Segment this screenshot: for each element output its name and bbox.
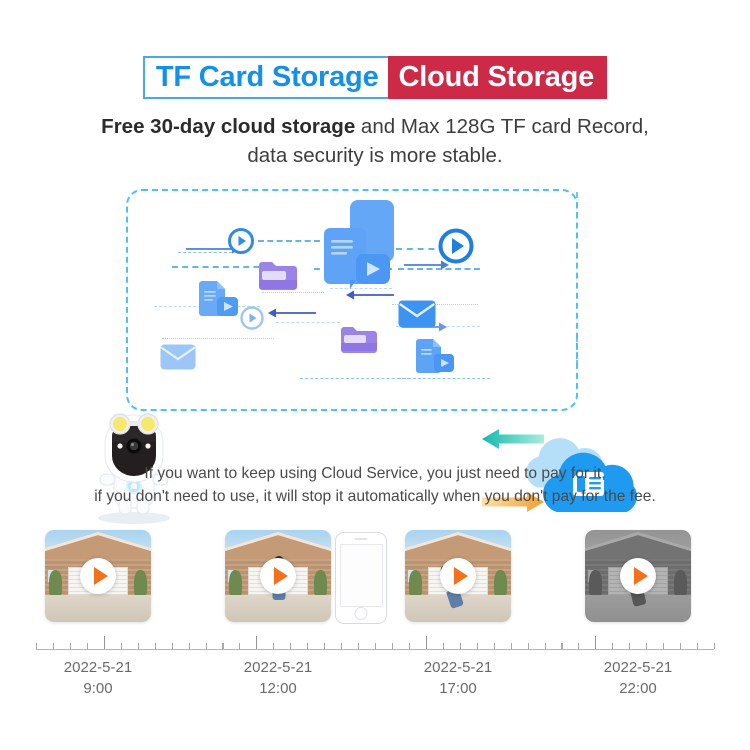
- ruler-tick: [358, 643, 359, 649]
- ruler-tick-major: [104, 636, 105, 649]
- ruler-tick: [290, 643, 291, 649]
- play-circle-icon: [438, 228, 474, 264]
- ruler-tick: [511, 643, 512, 649]
- subtitle-line-2: data security is more stable.: [0, 141, 750, 170]
- driveway: [45, 595, 151, 622]
- timeline-time: 9:00: [18, 678, 178, 699]
- timeline-date: 2022-5-21: [558, 657, 718, 678]
- timeline-label: 2022-5-21 9:00: [18, 657, 178, 699]
- subtitle: Free 30-day cloud storage and Max 128G T…: [0, 112, 750, 170]
- bush: [49, 570, 62, 596]
- subtitle-rest: and Max 128G TF card Record,: [355, 115, 649, 138]
- bush: [674, 570, 687, 596]
- connector-line: [162, 338, 274, 339]
- ruler-tick: [392, 643, 393, 649]
- video-file-icon: [414, 338, 456, 378]
- play-button-icon[interactable]: [620, 558, 656, 594]
- ruler-tick: [612, 643, 613, 649]
- recording-timeline: 2022-5-21 9:00 2022-5-21 12:00 2022-5-21…: [0, 524, 750, 704]
- ruler-tick: [206, 643, 207, 649]
- ruler-tick: [561, 643, 562, 649]
- ruler-tick: [663, 643, 664, 649]
- banner-tf-card-storage: TF Card Storage: [143, 56, 388, 99]
- ruler-tick: [273, 643, 274, 649]
- timeline-date: 2022-5-21: [378, 657, 538, 678]
- ruler-tick: [87, 643, 88, 649]
- ruler-tick: [36, 643, 37, 649]
- subtitle-bold: Free 30-day cloud storage: [101, 115, 355, 138]
- timeline-time: 17:00: [378, 678, 538, 699]
- play-circle-icon: [240, 306, 264, 330]
- banner-cloud-storage: Cloud Storage: [388, 56, 608, 99]
- banner-inner: TF Card Storage Cloud Storage: [143, 56, 607, 99]
- play-button-icon[interactable]: [440, 558, 476, 594]
- play-circle-icon: [228, 228, 254, 254]
- timeline-label: 2022-5-21 17:00: [378, 657, 538, 699]
- ruler-tick: [477, 643, 478, 649]
- ruler-tick: [697, 643, 698, 649]
- ruler-tick: [528, 643, 529, 649]
- ruler-tick-major: [256, 636, 257, 649]
- ruler-tick: [341, 643, 342, 649]
- product-feature-page: TF Card Storage Cloud Storage Free 30-da…: [0, 0, 750, 750]
- ruler-tick: [545, 643, 546, 649]
- ruler-tick: [680, 643, 681, 649]
- ruler-tick: [307, 643, 308, 649]
- connector-line: [262, 292, 324, 293]
- ruler-tick-major: [595, 636, 596, 649]
- connector-line: [276, 322, 340, 323]
- ruler-tick: [629, 643, 630, 649]
- arrow-left-icon: [268, 306, 316, 320]
- ruler-tick: [375, 643, 376, 649]
- ruler-tick: [172, 643, 173, 649]
- video-thumbnail[interactable]: [225, 530, 331, 622]
- header-banner: TF Card Storage Cloud Storage: [0, 56, 750, 99]
- ruler-tick: [714, 643, 715, 649]
- video-thumbnail[interactable]: [585, 530, 691, 622]
- connector-line: [576, 192, 578, 218]
- ruler-tick: [121, 643, 122, 649]
- timeline-ruler[interactable]: [36, 638, 714, 654]
- subtitle-line-1: Free 30-day cloud storage and Max 128G T…: [0, 112, 750, 141]
- connector-line: [398, 378, 490, 379]
- ruler-tick: [494, 643, 495, 649]
- diagram-area: [0, 180, 750, 455]
- connector-line: [258, 240, 320, 242]
- ruler-tick: [409, 643, 410, 649]
- note-line-2: if you don't need to use, it will stop i…: [0, 485, 750, 508]
- connector-line: [576, 336, 578, 366]
- ruler-tick: [138, 643, 139, 649]
- video-thumbnail[interactable]: [405, 530, 511, 622]
- ruler-tick-major: [426, 636, 427, 649]
- timeline-date: 2022-5-21: [18, 657, 178, 678]
- bush: [314, 570, 327, 596]
- ruler-baseline: [36, 649, 714, 650]
- bush: [589, 570, 602, 596]
- bush: [134, 570, 147, 596]
- ruler-tick: [53, 643, 54, 649]
- ruler-tick: [189, 643, 190, 649]
- ruler-tick: [155, 643, 156, 649]
- ruler-tick: [324, 643, 325, 649]
- ruler-tick: [646, 643, 647, 649]
- bush: [494, 570, 507, 596]
- cloud-service-note: If you want to keep using Cloud Service,…: [0, 462, 750, 508]
- timeline-date: 2022-5-21: [198, 657, 358, 678]
- timeline-label: 2022-5-21 12:00: [198, 657, 358, 699]
- play-button-icon[interactable]: [260, 558, 296, 594]
- folder-icon: [340, 325, 378, 355]
- video-file-icon: [196, 280, 240, 322]
- folder-icon: [258, 260, 298, 292]
- ruler-tick: [222, 643, 223, 649]
- note-line-1: If you want to keep using Cloud Service,…: [0, 462, 750, 485]
- document-icon: [322, 200, 400, 306]
- ruler-tick: [460, 643, 461, 649]
- envelope-icon: [160, 344, 196, 370]
- timeline-label: 2022-5-21 22:00: [558, 657, 718, 699]
- play-button-icon[interactable]: [80, 558, 116, 594]
- bush: [229, 570, 242, 596]
- ruler-tick: [443, 643, 444, 649]
- timeline-time: 12:00: [198, 678, 358, 699]
- ruler-tick: [578, 643, 579, 649]
- envelope-icon: [398, 300, 436, 328]
- ruler-tick: [239, 643, 240, 649]
- bush: [409, 570, 422, 596]
- timeline-time: 22:00: [558, 678, 718, 699]
- ruler-tick: [70, 643, 71, 649]
- connector-line: [300, 378, 410, 379]
- video-thumbnail[interactable]: [45, 530, 151, 622]
